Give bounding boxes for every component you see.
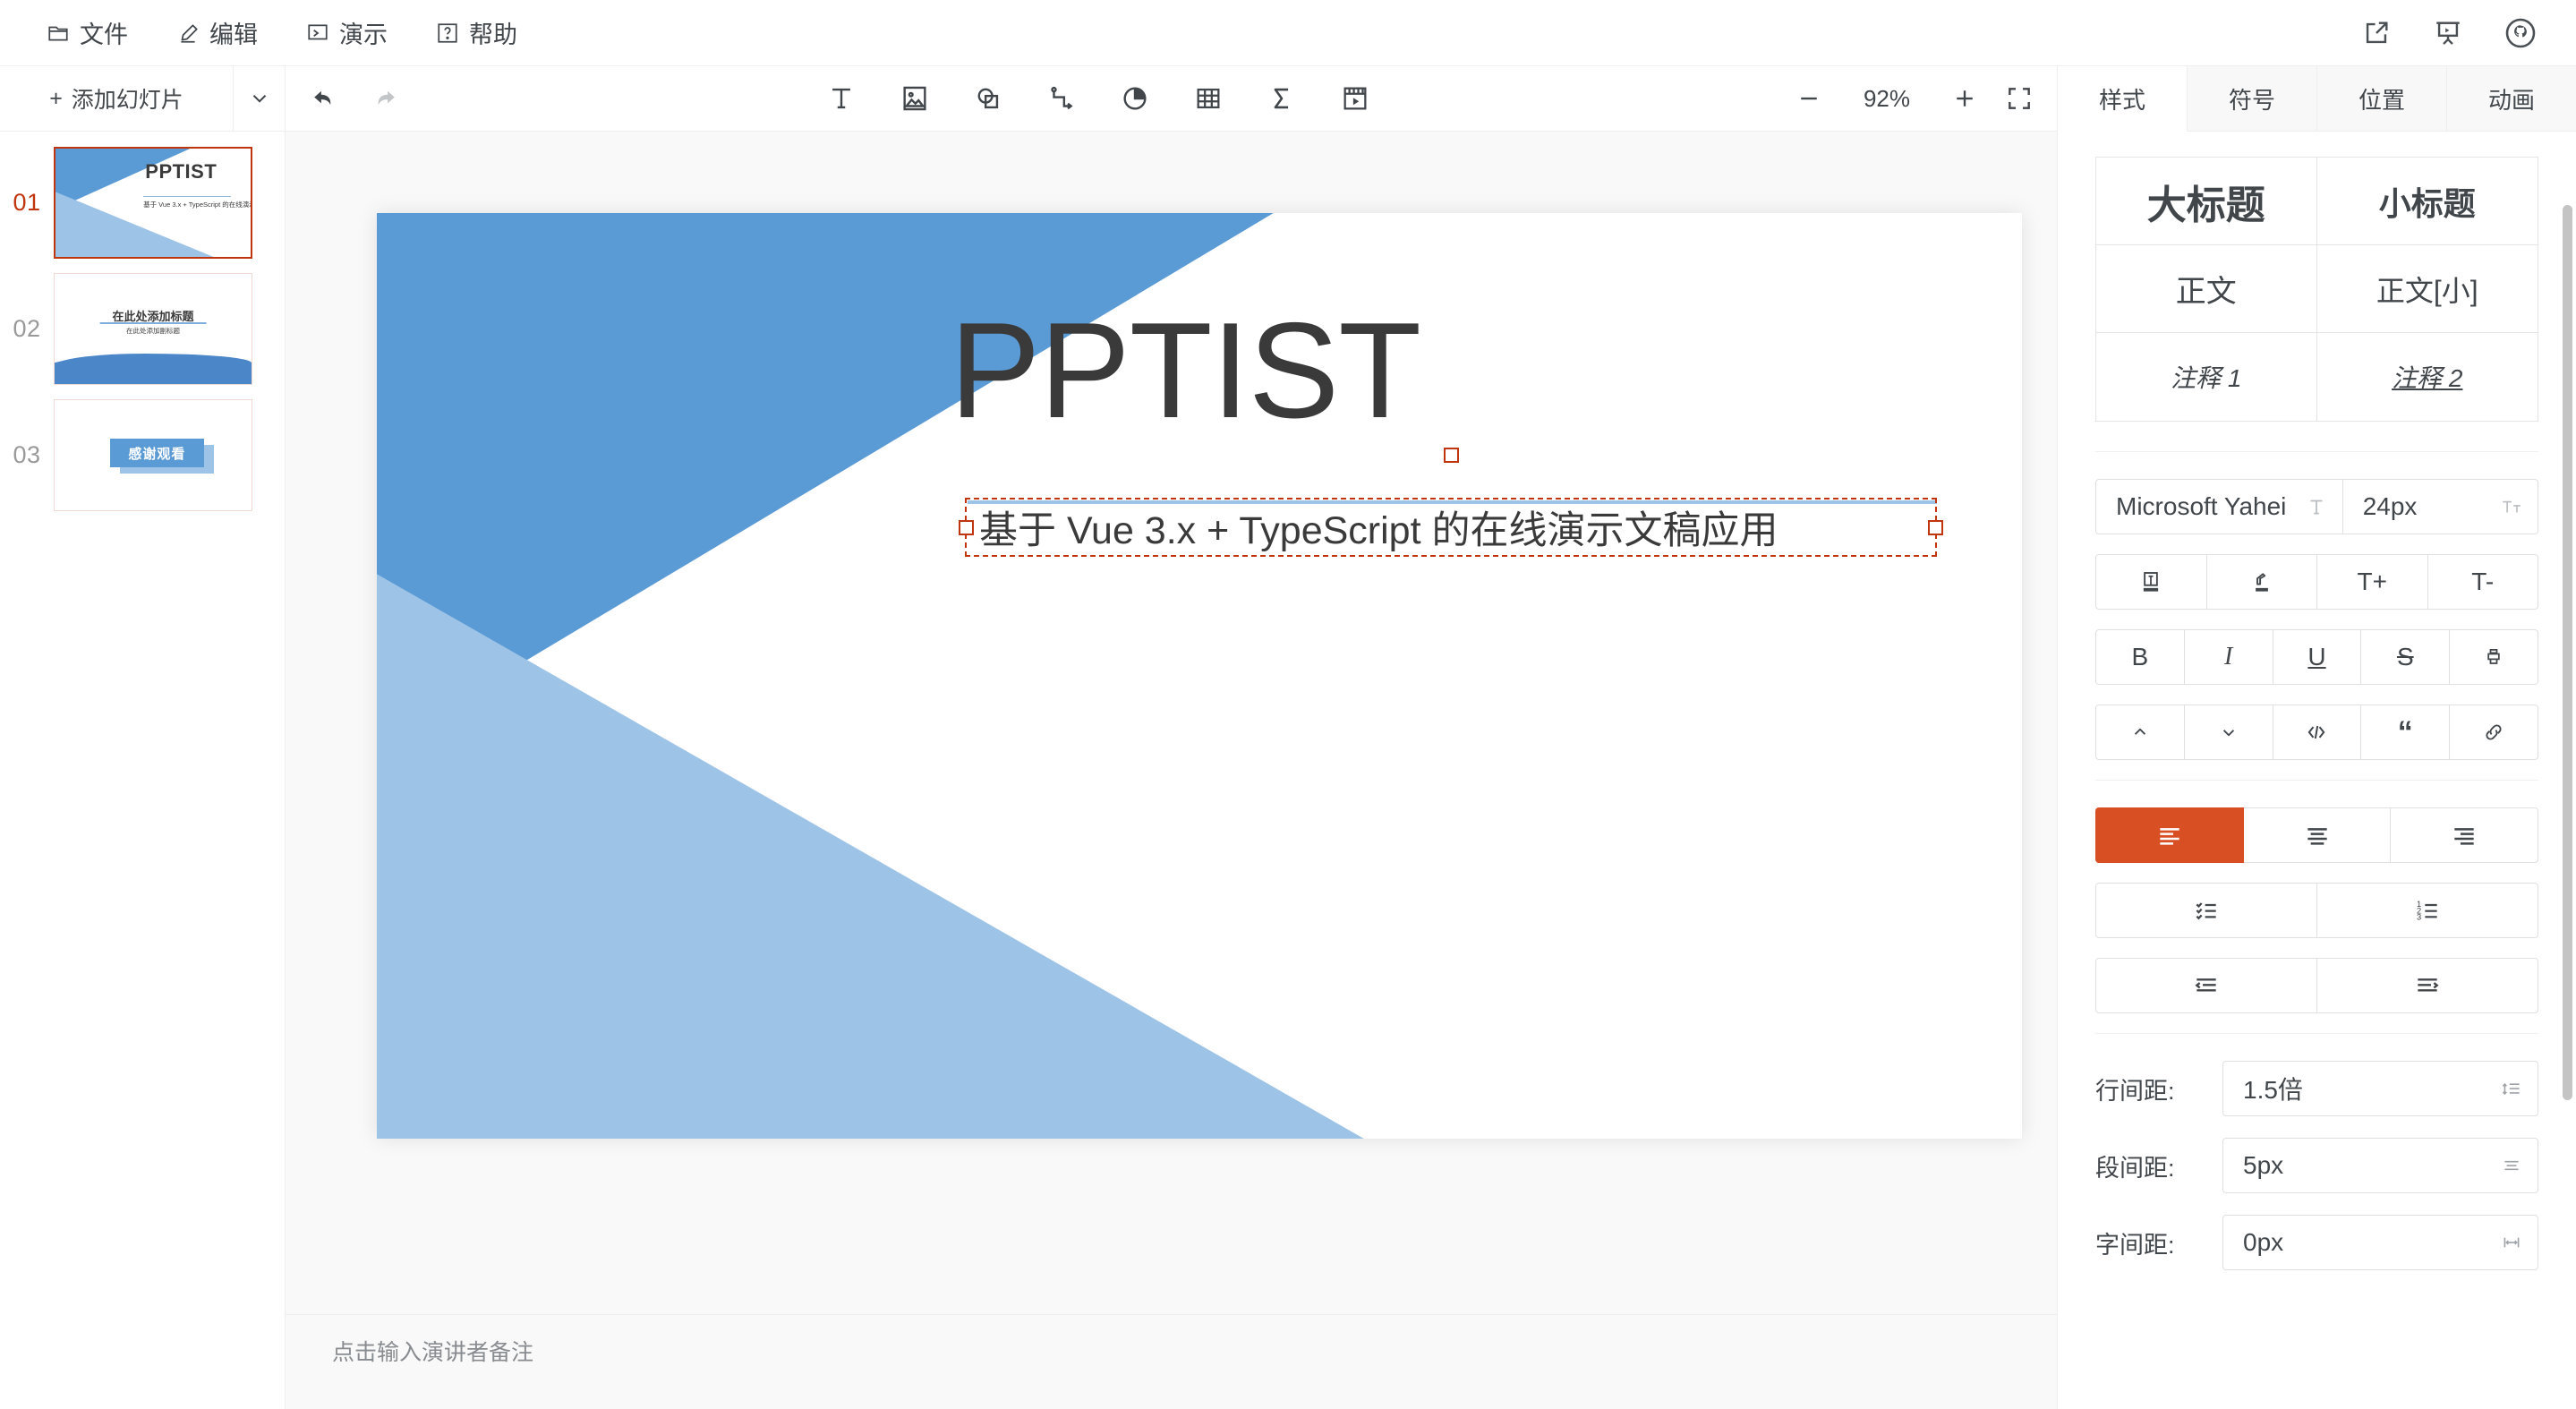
resize-handle-left[interactable]: [959, 520, 974, 535]
present-icon[interactable]: [2433, 18, 2463, 48]
paragraph-spacing-row: 段间距: 5px: [2095, 1138, 2538, 1193]
tab-position-label: 位置: [2358, 82, 2405, 115]
preset-label: 小标题: [2379, 178, 2476, 225]
menu-item-help[interactable]: 帮助: [423, 10, 530, 56]
line-height-label: 行间距:: [2095, 1072, 2222, 1106]
plus-icon[interactable]: [1951, 85, 1978, 112]
preset-style-small-title[interactable]: 小标题: [2317, 158, 2538, 245]
font-size-select[interactable]: 24px: [2343, 479, 2538, 534]
bold-label: B: [2132, 643, 2149, 671]
align-left-icon[interactable]: [2095, 807, 2244, 863]
slide-thumbnail-panel: + 添加幻灯片 01 PPTIST 基于 V: [0, 66, 286, 1409]
subscript-icon[interactable]: [2185, 704, 2273, 760]
thumbnail-title: 感谢观看: [128, 444, 185, 463]
menu-item-edit-label: 编辑: [209, 15, 258, 50]
thumbnail-slide-2[interactable]: 在此处添加标题 在此处添加副标题: [54, 273, 252, 385]
editor-column: 92% PPTIST 基于 Vue 3.x + TypeScript 的在线演: [286, 66, 2057, 1409]
letter-spacing-row: 字间距: 0px: [2095, 1215, 2538, 1270]
table-icon[interactable]: [1193, 83, 1224, 114]
align-center-icon[interactable]: [2244, 807, 2392, 863]
thumbnail-index: 02: [0, 315, 54, 343]
preset-style-note-2[interactable]: 注释 2: [2317, 333, 2538, 421]
svg-text:3: 3: [2417, 913, 2421, 922]
tab-symbol-label: 符号: [2229, 82, 2275, 115]
main-area: + 添加幻灯片 01 PPTIST 基于 V: [0, 66, 2576, 1409]
menu-item-file[interactable]: 文件: [34, 10, 141, 56]
letter-spacing-select[interactable]: 0px: [2222, 1215, 2538, 1270]
strikethrough-icon[interactable]: S: [2361, 629, 2450, 685]
tab-position[interactable]: 位置: [2316, 66, 2446, 132]
thumbnail-subtitle: 基于 Vue 3.x + TypeScript 的在线演示文稿应用: [143, 200, 252, 209]
thumb-rule: [143, 196, 231, 197]
menubar-actions: [2361, 17, 2546, 49]
list-item[interactable]: 03 感谢观看: [0, 392, 285, 518]
editor-toolbar: 92%: [286, 66, 2057, 132]
fullscreen-icon[interactable]: [2005, 84, 2034, 113]
thumb-wave-shape-2: [54, 357, 173, 384]
indent-row: [2095, 958, 2538, 1013]
divider: [2095, 451, 2538, 452]
menu-item-help-label: 帮助: [469, 15, 517, 50]
preset-style-note-1[interactable]: 注释 1: [2096, 333, 2317, 421]
clear-format-icon[interactable]: [2450, 629, 2538, 685]
thumbnail-list[interactable]: 01 PPTIST 基于 Vue 3.x + TypeScript 的在线演示文…: [0, 132, 285, 1409]
font-family-icon: [2305, 495, 2328, 518]
thumbnail-title: 在此处添加标题: [112, 307, 193, 324]
line-height-select[interactable]: 1.5倍: [2222, 1061, 2538, 1116]
outdent-icon[interactable]: [2095, 958, 2317, 1013]
divider: [2095, 1033, 2538, 1034]
preset-style-grid: 大标题 小标题 正文 正文[小] 注释 1 注释 2: [2095, 157, 2538, 422]
bold-icon[interactable]: B: [2095, 629, 2185, 685]
tab-style-label: 样式: [2099, 82, 2145, 115]
quote-icon[interactable]: “: [2361, 704, 2450, 760]
history-buttons: [309, 83, 400, 114]
underline-label: U: [2307, 643, 2325, 671]
tab-style[interactable]: 样式: [2058, 66, 2187, 132]
undo-icon[interactable]: [309, 83, 339, 114]
thumbnail-index: 03: [0, 441, 54, 469]
folder-icon: [47, 21, 70, 45]
tab-symbol[interactable]: 符号: [2187, 66, 2316, 132]
font-size-icon: [2500, 495, 2523, 518]
add-slide-row: + 添加幻灯片: [0, 66, 285, 132]
menu-item-edit[interactable]: 编辑: [164, 10, 270, 56]
plus-icon: +: [49, 86, 63, 112]
question-icon: [436, 21, 459, 45]
bullet-list-icon[interactable]: [2095, 883, 2317, 938]
slide-title-text[interactable]: PPTIST: [950, 296, 1420, 446]
underline-icon[interactable]: U: [2273, 629, 2362, 685]
preset-label: 正文[小]: [2376, 269, 2478, 310]
minus-icon[interactable]: [1796, 85, 1822, 112]
highlight-color-icon[interactable]: [2207, 554, 2318, 610]
zoom-controls: 92%: [1796, 84, 2034, 113]
menu-item-file-label: 文件: [80, 15, 128, 50]
divider: [2095, 780, 2538, 781]
code-icon[interactable]: [2273, 704, 2362, 760]
align-right-icon[interactable]: [2391, 807, 2538, 863]
decrease-font-size-icon[interactable]: T-: [2428, 554, 2539, 610]
github-icon[interactable]: [2504, 17, 2537, 49]
font-family-select[interactable]: Microsoft Yahei: [2095, 479, 2343, 534]
strikethrough-label: S: [2397, 643, 2414, 671]
add-slide-label: 添加幻灯片: [72, 82, 183, 115]
quote-label: “: [2398, 723, 2413, 741]
slide-canvas-area[interactable]: PPTIST 基于 Vue 3.x + TypeScript 的在线演示文稿应用: [286, 132, 2057, 1315]
thumbnail-index: 01: [0, 189, 54, 217]
letter-spacing-icon: [2500, 1231, 2523, 1254]
preset-label: 大标题: [2147, 173, 2265, 230]
increase-font-size-label: T+: [2358, 568, 2387, 596]
text-color-icon[interactable]: [2095, 554, 2207, 610]
font-size-value: 24px: [2363, 492, 2418, 521]
menubar: 文件 编辑 演示 帮助: [0, 0, 2576, 66]
script-row: “: [2095, 704, 2538, 760]
thumbnail-slide-1[interactable]: PPTIST 基于 Vue 3.x + TypeScript 的在线演示文稿应用: [54, 147, 252, 259]
menu-item-present-label: 演示: [339, 15, 388, 50]
text-icon[interactable]: [826, 83, 857, 114]
letter-spacing-label: 字间距:: [2095, 1225, 2222, 1260]
slide-subtitle-text[interactable]: 基于 Vue 3.x + TypeScript 的在线演示文稿应用: [979, 500, 1778, 555]
thumbnail-subtitle: 在此处添加副标题: [126, 326, 180, 336]
chevron-down-icon: [248, 87, 271, 110]
media-icon[interactable]: [1340, 83, 1370, 114]
line-height-value: 1.5倍: [2243, 1071, 2303, 1106]
preset-label: 注释 2: [2392, 359, 2462, 395]
add-slide-button[interactable]: + 添加幻灯片: [0, 66, 233, 131]
speaker-notes-placeholder[interactable]: 点击输入演讲者备注: [332, 1335, 533, 1367]
line-height-row: 行间距: 1.5倍: [2095, 1061, 2538, 1116]
panel-tabs: 样式 符号 位置 动画: [2058, 66, 2576, 132]
tab-animation[interactable]: 动画: [2446, 66, 2576, 132]
line-icon[interactable]: [1046, 83, 1077, 114]
preset-style-big-title[interactable]: 大标题: [2096, 158, 2317, 245]
shape-icon[interactable]: [973, 83, 1003, 114]
numbered-list-icon[interactable]: 1 2 3: [2317, 883, 2538, 938]
preset-label: 注释 1: [2171, 359, 2241, 395]
thumbnail-title: PPTIST: [145, 160, 217, 184]
list-item[interactable]: 02 在此处添加标题 在此处添加副标题: [0, 266, 285, 392]
italic-label: I: [2224, 643, 2232, 671]
zoom-level[interactable]: 92%: [1849, 85, 1924, 113]
screen-icon: [306, 21, 329, 45]
superscript-icon[interactable]: [2095, 704, 2185, 760]
align-row: [2095, 807, 2538, 863]
list-row: 1 2 3: [2095, 883, 2538, 938]
list-item[interactable]: 01 PPTIST 基于 Vue 3.x + TypeScript 的在线演示文…: [0, 140, 285, 266]
paragraph-spacing-label: 段间距:: [2095, 1149, 2222, 1183]
panel-scrollbar[interactable]: [2563, 205, 2572, 1100]
font-row: Microsoft Yahei 24px: [2095, 479, 2538, 534]
line-height-icon: [2500, 1077, 2523, 1100]
text-style-row: B I U S: [2095, 629, 2538, 685]
italic-icon[interactable]: I: [2185, 629, 2273, 685]
preset-style-body[interactable]: 正文: [2096, 245, 2317, 333]
export-icon[interactable]: [2361, 18, 2392, 48]
style-panel-body: 大标题 小标题 正文 正文[小] 注释 1 注释 2: [2058, 132, 2576, 1409]
letter-spacing-value: 0px: [2243, 1228, 2283, 1257]
slide-canvas[interactable]: PPTIST 基于 Vue 3.x + TypeScript 的在线演示文稿应用: [377, 213, 2022, 1139]
tab-animation-label: 动画: [2488, 82, 2535, 115]
indent-icon[interactable]: [2317, 958, 2538, 1013]
selected-text-element[interactable]: 基于 Vue 3.x + TypeScript 的在线演示文稿应用: [965, 498, 1937, 557]
paragraph-spacing-value: 5px: [2243, 1151, 2283, 1180]
add-slide-dropdown-button[interactable]: [233, 66, 285, 131]
thumb-box-shape: 感谢观看: [110, 439, 205, 467]
formula-icon[interactable]: [1267, 83, 1297, 114]
decrease-font-size-label: T-: [2471, 568, 2494, 596]
link-icon[interactable]: [2450, 704, 2538, 760]
insert-tools: [400, 83, 1796, 114]
speaker-notes-area[interactable]: 点击输入演讲者备注: [286, 1315, 2057, 1409]
menu-item-present[interactable]: 演示: [294, 10, 400, 56]
resize-handle-right[interactable]: [1928, 520, 1943, 535]
preset-label: 正文: [2176, 267, 2237, 311]
paragraph-spacing-select[interactable]: 5px: [2222, 1138, 2538, 1193]
style-panel: 样式 符号 位置 动画 大标题 小标题 正文: [2057, 66, 2576, 1409]
image-icon[interactable]: [900, 83, 930, 114]
increase-font-size-icon[interactable]: T+: [2317, 554, 2428, 610]
redo-icon[interactable]: [370, 83, 400, 114]
text-color-row: T+ T-: [2095, 554, 2538, 610]
rotate-handle[interactable]: [1444, 448, 1459, 463]
font-family-value: Microsoft Yahei: [2116, 492, 2286, 521]
thumb-rule: [100, 322, 207, 324]
pencil-icon: [176, 21, 200, 45]
paragraph-spacing-icon: [2500, 1154, 2523, 1177]
preset-style-body-small[interactable]: 正文[小]: [2317, 245, 2538, 333]
chart-icon[interactable]: [1120, 83, 1150, 114]
thumbnail-slide-3[interactable]: 感谢观看: [54, 399, 252, 511]
